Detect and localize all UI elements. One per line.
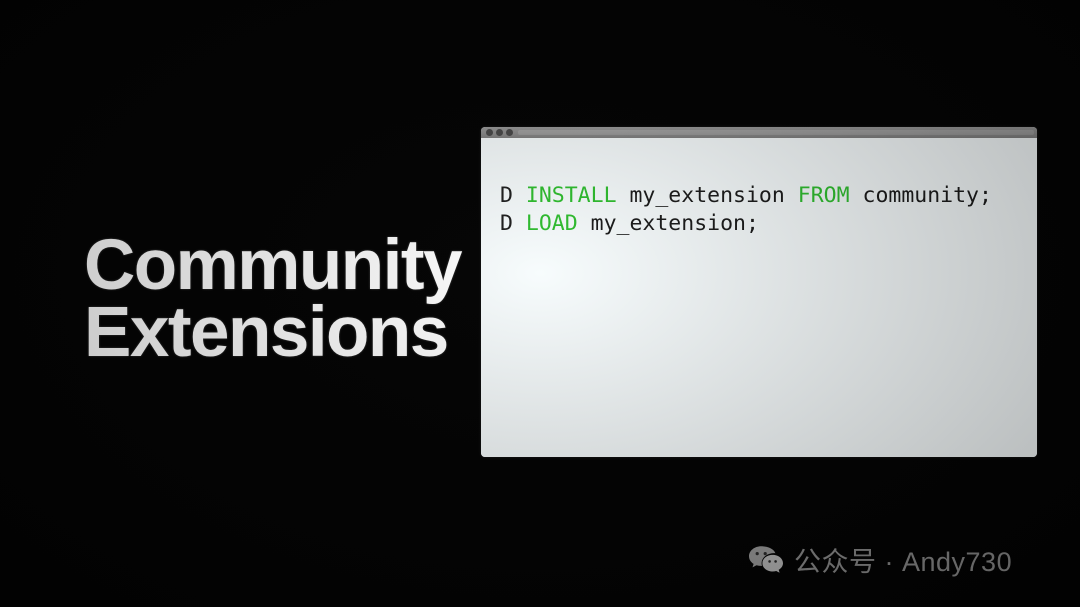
titlebar-drag-handle[interactable] — [518, 130, 1034, 135]
terminal-window[interactable]: D INSTALL my_extension FROM community; D… — [481, 127, 1037, 457]
page-title: Community Extensions — [84, 232, 464, 366]
close-dot-icon[interactable] — [486, 129, 493, 136]
code-space — [513, 183, 526, 208]
maximize-dot-icon[interactable] — [506, 129, 513, 136]
sql-keyword-load: LOAD — [526, 211, 578, 236]
watermark: 公众号 · Andy730 — [748, 540, 1012, 579]
identifier-extension-name: my_extension — [629, 183, 784, 208]
minimize-dot-icon[interactable] — [496, 129, 503, 136]
identifier-extension-name: my_extension; — [591, 211, 759, 236]
prompt-symbol: D — [500, 183, 513, 208]
page-title-line-2: Extensions — [84, 299, 464, 366]
sql-keyword-install: INSTALL — [526, 183, 617, 208]
code-space — [785, 183, 798, 208]
terminal-line: D INSTALL my_extension FROM community; — [500, 182, 1037, 210]
watermark-label: 公众号 · Andy730 — [794, 540, 1012, 579]
terminal-output-area[interactable]: D INSTALL my_extension FROM community; D… — [481, 138, 1037, 457]
terminal-line: D LOAD my_extension; — [500, 210, 1037, 238]
repository-name: community; — [863, 183, 992, 208]
sql-keyword-from: FROM — [798, 183, 850, 208]
code-space — [617, 183, 630, 208]
prompt-symbol: D — [500, 211, 513, 236]
wechat-icon — [748, 545, 784, 575]
code-space — [513, 211, 526, 236]
code-space — [578, 211, 591, 236]
terminal-titlebar[interactable] — [481, 127, 1037, 138]
code-space — [850, 183, 863, 208]
page-title-line-1: Community — [84, 232, 464, 299]
slide-canvas: Community Extensions D INSTALL my_extens… — [0, 0, 1080, 607]
